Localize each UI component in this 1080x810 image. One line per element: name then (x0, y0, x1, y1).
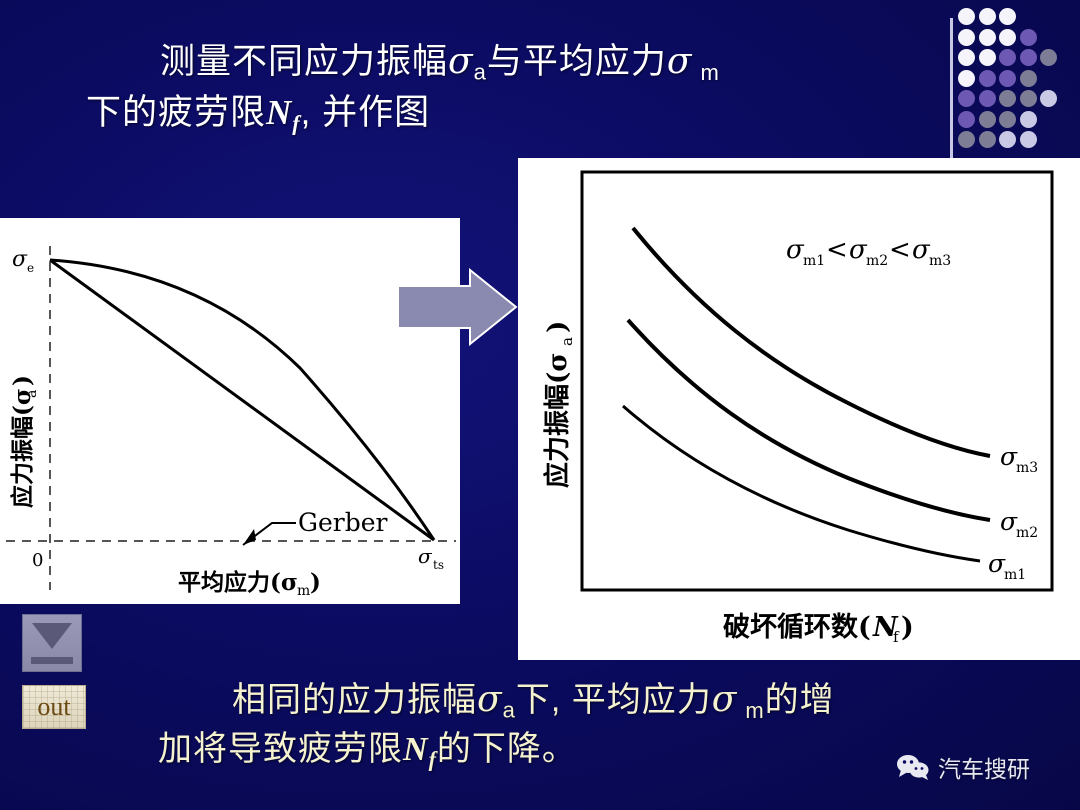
caption-sigma-a: σ (477, 679, 503, 720)
decorative-dot (1040, 90, 1057, 107)
sn-y-axis-label-close: ) (543, 321, 573, 333)
sn-curve-sigma-m1 (623, 406, 980, 561)
chart-sn-curves: σ m1 < σ m2 < σ m3 σ m3 σ m2 σ m1 应力振幅(σ… (518, 158, 1080, 660)
decorative-vertical-line (950, 18, 953, 158)
sn-annotation-sigma2-sub: m2 (866, 253, 888, 269)
decorative-dot (999, 90, 1016, 107)
down-arrow-icon (32, 623, 72, 649)
caption-line1-b: 下, 平均应力 (516, 681, 712, 719)
out-button[interactable]: out (22, 685, 86, 729)
caption-line2-a: 加将导致疲劳限 (158, 730, 403, 768)
decorative-dot (1020, 90, 1037, 107)
decorative-dot (999, 131, 1016, 148)
decorative-dot (1020, 111, 1037, 128)
chart-goodman-gerber-svg: σ e 0 σ ts 应力振幅(σ a ) 平均应力(σ m ) Gerber … (0, 218, 460, 604)
left-chart-sigma-ts-label: σ (418, 544, 433, 568)
decorative-dot (958, 8, 975, 25)
decorative-dot (979, 70, 996, 87)
right-arrow-icon (398, 270, 516, 344)
process-arrow-svg (396, 268, 518, 346)
nav-down-button[interactable] (22, 614, 82, 672)
chart-goodman-gerber: σ e 0 σ ts 应力振幅(σ a ) 平均应力(σ m ) Gerber … (0, 218, 460, 604)
left-chart-x-axis-label-close: ) (310, 569, 321, 596)
decorative-dot (999, 49, 1016, 66)
slide-canvas: 测量不同应力振幅σa与平均应力σm 下的疲劳限Nf, 并作图 σ e 0 (0, 0, 1080, 810)
title-nf-symbol: N (266, 93, 292, 132)
left-chart-y-axis-label-sub: a (24, 390, 40, 398)
decorative-dot (979, 111, 996, 128)
title-line1-a: 测量不同应力振幅 (160, 42, 448, 81)
decorative-dot (979, 131, 996, 148)
title-sigma-m: σ (667, 41, 693, 82)
decorative-dot (1020, 49, 1037, 66)
sn-plot-frame (582, 172, 1052, 590)
left-chart-origin-label: 0 (32, 550, 43, 571)
caption-nf-symbol: N (403, 731, 429, 768)
sn-label-sigma-m2-sub: m2 (1016, 525, 1038, 541)
sn-x-axis-label: 破坏循环数( (723, 612, 871, 643)
sn-annotation-sigma1-sub: m1 (803, 253, 825, 269)
watermark: 汽车搜研 (896, 750, 1030, 784)
sn-x-axis-label-sub: f (893, 628, 900, 646)
decorative-dot (958, 90, 975, 107)
decorative-dot (979, 29, 996, 46)
goodman-curve (50, 260, 434, 540)
sn-curve-sigma-m2 (628, 320, 990, 520)
decorative-dot (999, 70, 1016, 87)
decorative-dot (979, 49, 996, 66)
wechat-icon (896, 753, 930, 781)
caption-sigma-m: σ (712, 679, 738, 720)
sn-annotation-lt1: < (826, 235, 848, 265)
sn-y-axis-label-sub: a (558, 337, 576, 346)
left-chart-sigma-ts-subscript: ts (433, 558, 444, 572)
left-chart-y-axis-label: 应力振幅(σ (9, 388, 36, 508)
caption-sigma-a-subscript: a (503, 698, 516, 723)
watermark-text: 汽车搜研 (938, 750, 1030, 784)
gerber-arrowhead (243, 529, 256, 545)
caption-line1-c: 的增 (765, 681, 835, 719)
decorative-dot (958, 49, 975, 66)
caption-nf-subscript: f (429, 746, 437, 771)
title-nf-subscript: f (292, 110, 300, 135)
decorative-dot (979, 8, 996, 25)
sn-label-sigma-m3-sub: m3 (1016, 460, 1038, 476)
left-chart-x-axis-label: 平均应力(σ (178, 569, 298, 596)
decorative-dot (999, 8, 1016, 25)
title-sigma-m-subscript: m (692, 60, 719, 85)
decorative-dot (979, 90, 996, 107)
left-chart-sigma-e-label: σ (12, 247, 28, 272)
decorative-dot-grid (958, 8, 1076, 158)
gerber-annotation-label: Gerber (298, 508, 388, 537)
sn-annotation-lt2: < (889, 235, 911, 265)
left-chart-x-axis-label-sub: m (297, 583, 310, 599)
decorative-dot (1020, 70, 1037, 87)
title-line2-b: , 并作图 (301, 93, 430, 132)
sn-annotation-sigma3-sub: m3 (929, 253, 951, 269)
title-sigma-a-subscript: a (474, 60, 487, 85)
decorative-dot (958, 29, 975, 46)
decorative-dot (958, 131, 975, 148)
left-chart-sigma-e-subscript: e (27, 261, 34, 275)
decorative-dot (1020, 29, 1037, 46)
caption-line2-b: 的下降。 (437, 730, 577, 768)
decorative-dot (999, 111, 1016, 128)
sn-label-sigma-m1-sub: m1 (1004, 567, 1026, 583)
sn-y-axis-label: 应力振幅(σ (542, 353, 573, 488)
left-chart-y-axis-label-close: ) (9, 375, 36, 386)
process-arrow (396, 268, 518, 346)
chart-sn-curves-svg: σ m1 < σ m2 < σ m3 σ m3 σ m2 σ m1 应力振幅(σ… (518, 158, 1080, 660)
title-line2-a: 下的疲劳限 (86, 93, 266, 132)
title-line1-b: 与平均应力 (487, 42, 667, 81)
decorative-dot (999, 29, 1016, 46)
caption-line1-a: 相同的应力振幅 (232, 681, 477, 719)
title-sigma-a: σ (448, 41, 474, 82)
caption-sigma-m-subscript: m (737, 698, 764, 723)
page-title: 测量不同应力振幅σa与平均应力σm 下的疲劳限Nf, 并作图 (86, 36, 916, 139)
decorative-dot (958, 70, 975, 87)
decorative-dot (1040, 49, 1057, 66)
decorative-dot (1020, 131, 1037, 148)
sn-x-axis-label-close: ) (901, 612, 914, 643)
nav-down-bar (31, 657, 73, 664)
slide-caption: 相同的应力振幅σa下, 平均应力σm的增 加将导致疲劳限Nf的下降。 (120, 676, 940, 774)
decorative-dot (958, 111, 975, 128)
